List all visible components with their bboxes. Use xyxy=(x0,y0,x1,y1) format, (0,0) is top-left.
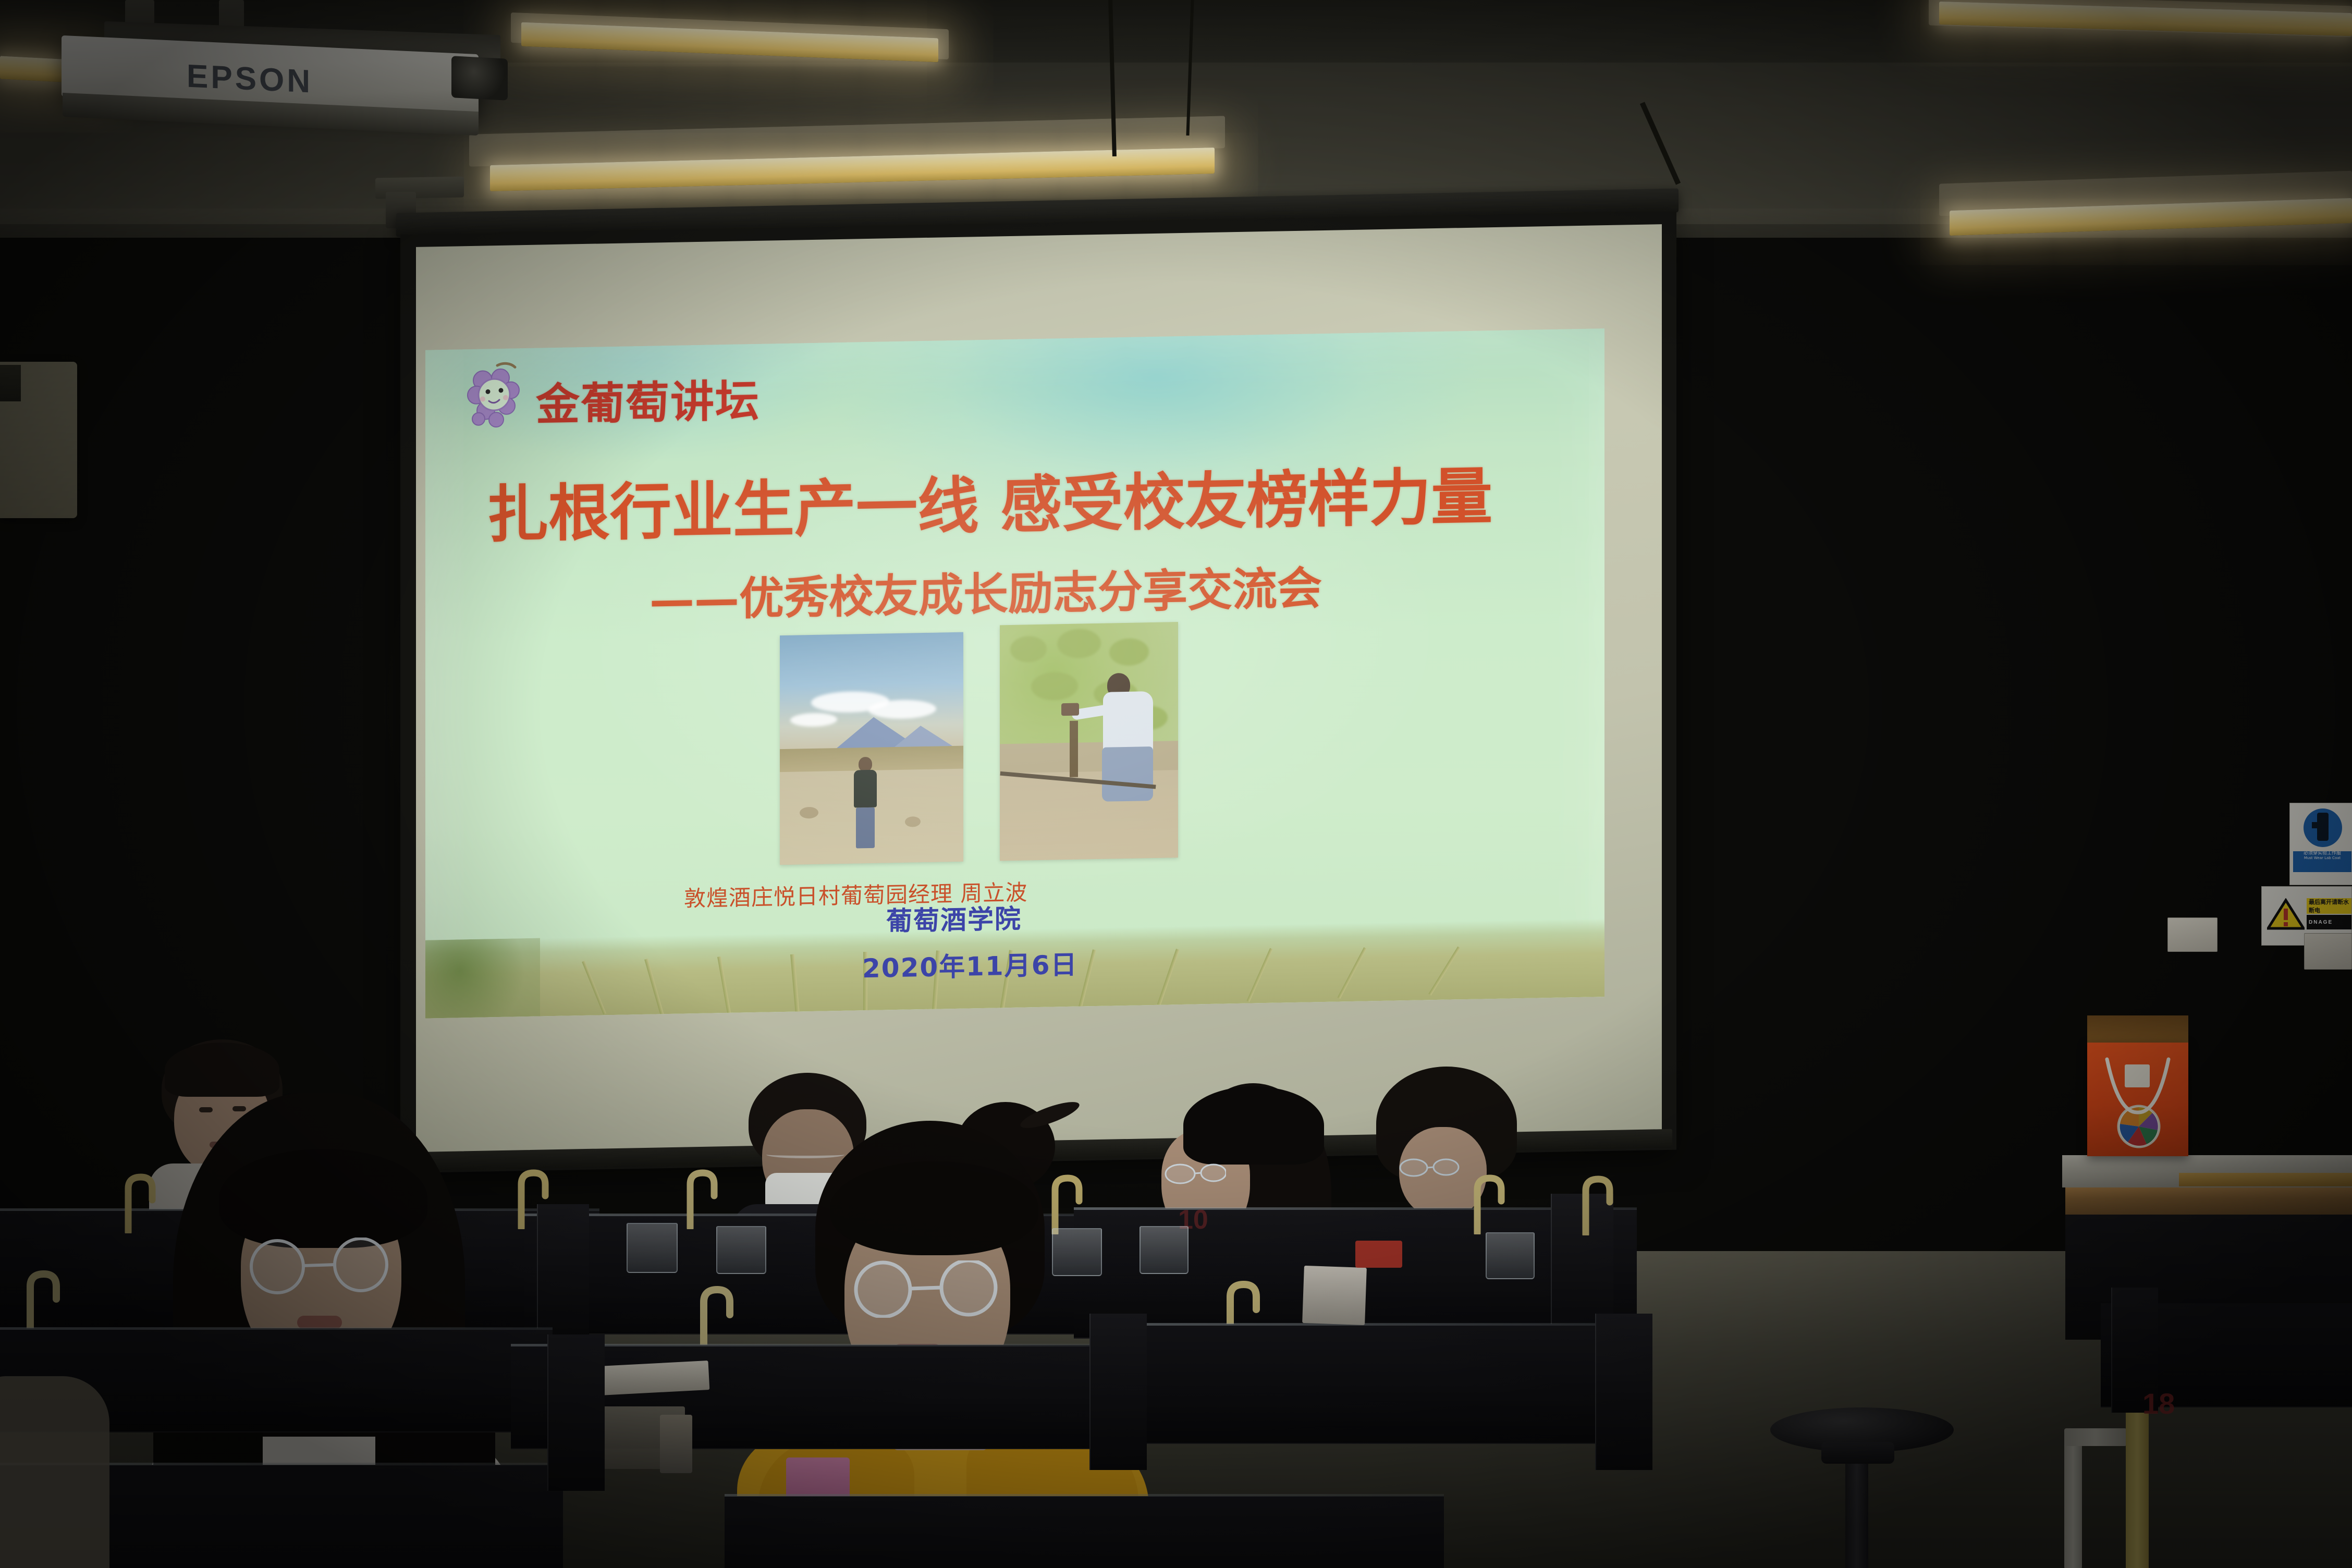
drain-pipe-vertical xyxy=(2064,1439,2082,1568)
bench-front-center-edge xyxy=(725,1494,1444,1497)
slide-brand-text: 金葡萄讲坛 xyxy=(536,366,760,433)
glasses-icon xyxy=(237,1238,409,1295)
bench-front-center xyxy=(725,1496,1444,1568)
drain-pipe-elbow xyxy=(2064,1428,2127,1446)
glasses-icon xyxy=(839,1260,1016,1318)
warning-sign-text-en: DNAGE xyxy=(2307,915,2352,929)
grape-mascot-icon xyxy=(463,360,525,428)
book-stack[interactable] xyxy=(660,1415,692,1473)
beaker-1[interactable] xyxy=(627,1223,678,1273)
beaker-5[interactable] xyxy=(1486,1232,1535,1279)
lab-coat-icon xyxy=(2304,808,2342,847)
slide-photo-vineyard xyxy=(1000,622,1178,861)
power-outlet-plate-1[interactable] xyxy=(2167,917,2218,952)
slide-photo-desert xyxy=(780,632,963,865)
faucet-icon-7[interactable] xyxy=(23,1267,62,1334)
paper-sheet-2[interactable] xyxy=(1302,1266,1367,1325)
slide-date: 2020年11月6日 xyxy=(862,944,1078,986)
slide-subtitle: ——优秀校友成长励志分享交流会 xyxy=(650,552,1322,629)
lab-coat-sign-text: 必须穿实验工作服 Must Wear Lab Coat xyxy=(2293,851,2351,872)
faucet-icon-6[interactable] xyxy=(1578,1173,1615,1235)
epson-brand-label: EPSON xyxy=(187,58,313,101)
lab-stool-collar xyxy=(1821,1442,1894,1464)
warning-triangle-icon xyxy=(2267,898,2305,930)
power-outlet-plate-2[interactable] xyxy=(2304,933,2352,970)
bench-row1-right-edge xyxy=(1095,1323,1647,1326)
glasses-icon xyxy=(1398,1157,1461,1178)
projection-screen-surface: 金葡萄讲坛 扎根行业生产一线 感受校友榜样力量 ——优秀校友成长励志分享交流会 xyxy=(416,224,1662,1160)
bench-row1-right xyxy=(1095,1324,1647,1444)
faucet-icon-3[interactable] xyxy=(683,1167,719,1229)
orange-gift-bag[interactable] xyxy=(2087,1043,2188,1156)
right-shelf-edge xyxy=(2179,1173,2352,1186)
bench-number-18: 18 xyxy=(2142,1387,2175,1420)
faucet-icon-5[interactable] xyxy=(1470,1172,1506,1234)
bench-divider-4 xyxy=(547,1334,605,1491)
faucet-icon-8[interactable] xyxy=(696,1282,735,1350)
bangs xyxy=(830,1161,1038,1255)
lab-coat-required-sign: 必须穿实验工作服 Must Wear Lab Coat xyxy=(2289,803,2352,885)
glasses-icon xyxy=(1163,1162,1226,1185)
bench-row1-left-edge xyxy=(0,1327,553,1330)
slide-title: 扎根行业生产一线 感受校友榜样力量 xyxy=(487,446,1492,554)
warning-sign-text-cn: 最后离开请断水断电 xyxy=(2307,898,2352,914)
gift-bag-lid xyxy=(2087,1015,2188,1047)
lecture-room-photo: EPSON xyxy=(0,0,2352,1568)
yellow-post xyxy=(2126,1407,2149,1568)
red-item[interactable] xyxy=(1355,1241,1402,1268)
projector-lens xyxy=(451,56,508,101)
slide-organization: 葡萄酒学院 xyxy=(886,898,1022,938)
lab-coat-sign-text-en: Must Wear Lab Coat xyxy=(2293,856,2351,861)
foreground-person-partial xyxy=(0,1376,120,1568)
bangs xyxy=(219,1149,427,1248)
right-counter-wood-trim xyxy=(2065,1187,2352,1217)
wall-unit-vent xyxy=(0,365,21,401)
bench-divider-5 xyxy=(1089,1314,1147,1470)
presentation-slide: 金葡萄讲坛 扎根行业生产一线 感受校友榜样力量 ——优秀校友成长励志分享交流会 xyxy=(425,328,1604,1018)
bench-divider-6 xyxy=(1595,1314,1652,1470)
